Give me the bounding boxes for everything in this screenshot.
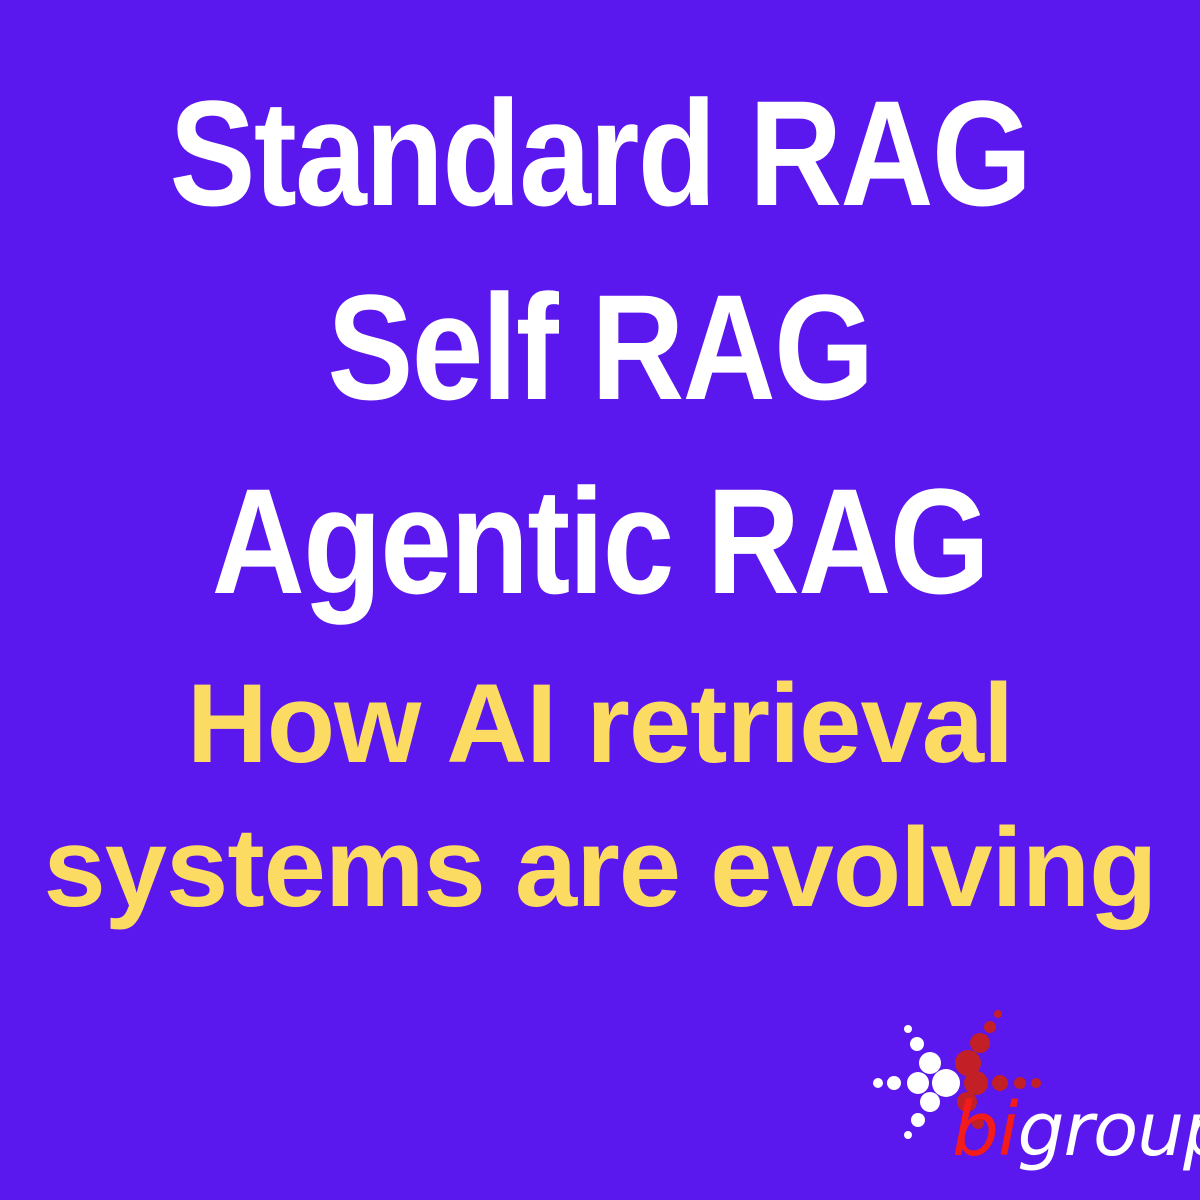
headline-standard-rag: Standard RAG bbox=[84, 78, 1116, 228]
poster-canvas: Standard RAG Self RAG Agentic RAG How AI… bbox=[0, 0, 1200, 1200]
subtitle-line-2: systems are evolving bbox=[0, 812, 1200, 924]
wordmark-bi: bi bbox=[952, 1087, 1018, 1173]
headline-agentic-rag: Agentic RAG bbox=[84, 466, 1116, 616]
bigroup-wordmark: bigroup bbox=[952, 1093, 1200, 1167]
subtitle-line-1-text: How AI retrieval bbox=[187, 661, 1013, 786]
wordmark-group: group bbox=[1018, 1087, 1200, 1173]
subtitle-line-1: How AI retrieval bbox=[0, 668, 1200, 780]
bigroup-logo: bigroup bbox=[870, 1005, 1170, 1185]
headline-self-rag: Self RAG bbox=[84, 272, 1116, 422]
subtitle-line-2-text: systems are evolving bbox=[43, 805, 1156, 930]
